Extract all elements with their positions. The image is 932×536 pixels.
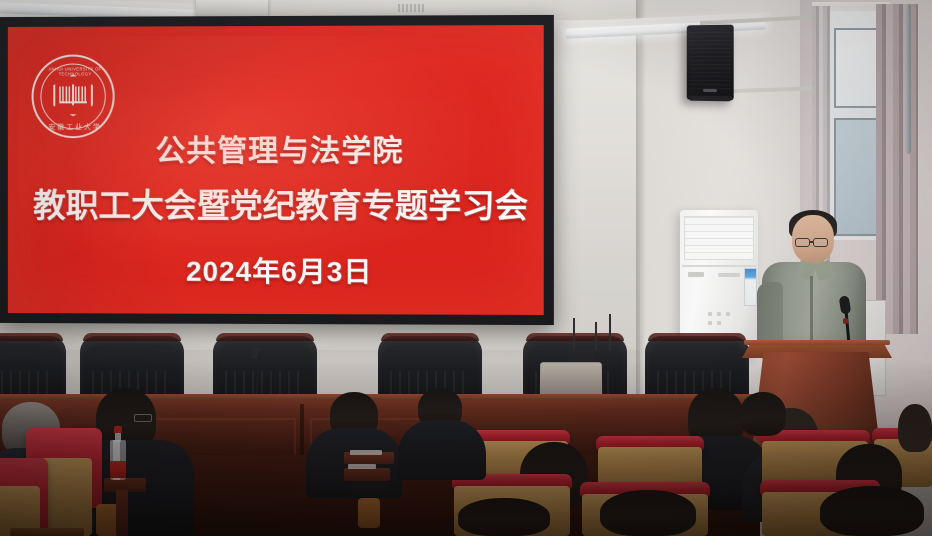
seat-side-desk — [344, 468, 390, 481]
presenter-glasses-icon — [813, 238, 828, 247]
presenter-glasses-bridge — [810, 241, 814, 243]
conference-hall-photo: ANHUI UNIVERSITY OF TECHNOLOGY 安徽工业大学 公共… — [0, 0, 932, 536]
antenna-rod — [595, 322, 597, 350]
antenna-rod — [609, 314, 611, 350]
ac-panel-divider — [682, 265, 756, 267]
speaker-grille — [690, 29, 731, 90]
audience-glasses-icon — [134, 414, 152, 422]
screen-date-text: 2024年6月3日 — [8, 249, 554, 290]
laptop-icon — [540, 362, 602, 398]
curtain-right — [876, 4, 918, 334]
projection-screen-surface: ANHUI UNIVERSITY OF TECHNOLOGY 安徽工业大学 公共… — [8, 25, 544, 315]
speaker-badge — [703, 89, 717, 92]
podium-microphone-ring — [843, 318, 848, 324]
ac-logo — [688, 272, 704, 277]
audience-head — [740, 392, 786, 436]
speaker-base — [689, 96, 732, 102]
audience-head — [600, 490, 696, 536]
ac-control-buttons — [706, 310, 732, 328]
ac-brand-mark — [718, 273, 740, 277]
curtain-rod — [906, 4, 911, 154]
audience-head — [458, 498, 550, 536]
seal-book-spine — [72, 84, 74, 105]
audience-head — [898, 404, 932, 452]
presenter-glasses-icon — [795, 238, 810, 247]
seat-side-desk-leg — [116, 490, 128, 536]
audience-head — [820, 486, 924, 536]
projector-vent — [398, 4, 424, 12]
auditorium-seat-arm[interactable] — [358, 498, 380, 528]
screen-title-line-2: 教职工大会暨党纪教育专题学习会 — [8, 179, 554, 227]
wall-speaker-icon — [687, 25, 734, 101]
seat-side-desk — [10, 528, 84, 536]
water-bottle-cap-icon — [114, 426, 122, 433]
window-glass-upper — [834, 28, 878, 108]
ac-air-grille — [684, 216, 754, 260]
paper-document — [348, 464, 376, 469]
audience-shoulders — [398, 420, 486, 480]
window-glass-lower — [834, 118, 878, 236]
ac-energy-label-sticker — [744, 268, 757, 306]
water-bottle-label — [110, 461, 126, 478]
podium-lip — [744, 340, 890, 345]
seal-english-text: ANHUI UNIVERSITY OF TECHNOLOGY — [34, 66, 117, 76]
paper-document — [350, 450, 382, 455]
antenna-rod — [573, 318, 575, 350]
projection-screen-frame: ANHUI UNIVERSITY OF TECHNOLOGY 安徽工业大学 公共… — [0, 15, 554, 325]
screen-title-line-1: 公共管理与法学院 — [8, 126, 554, 170]
